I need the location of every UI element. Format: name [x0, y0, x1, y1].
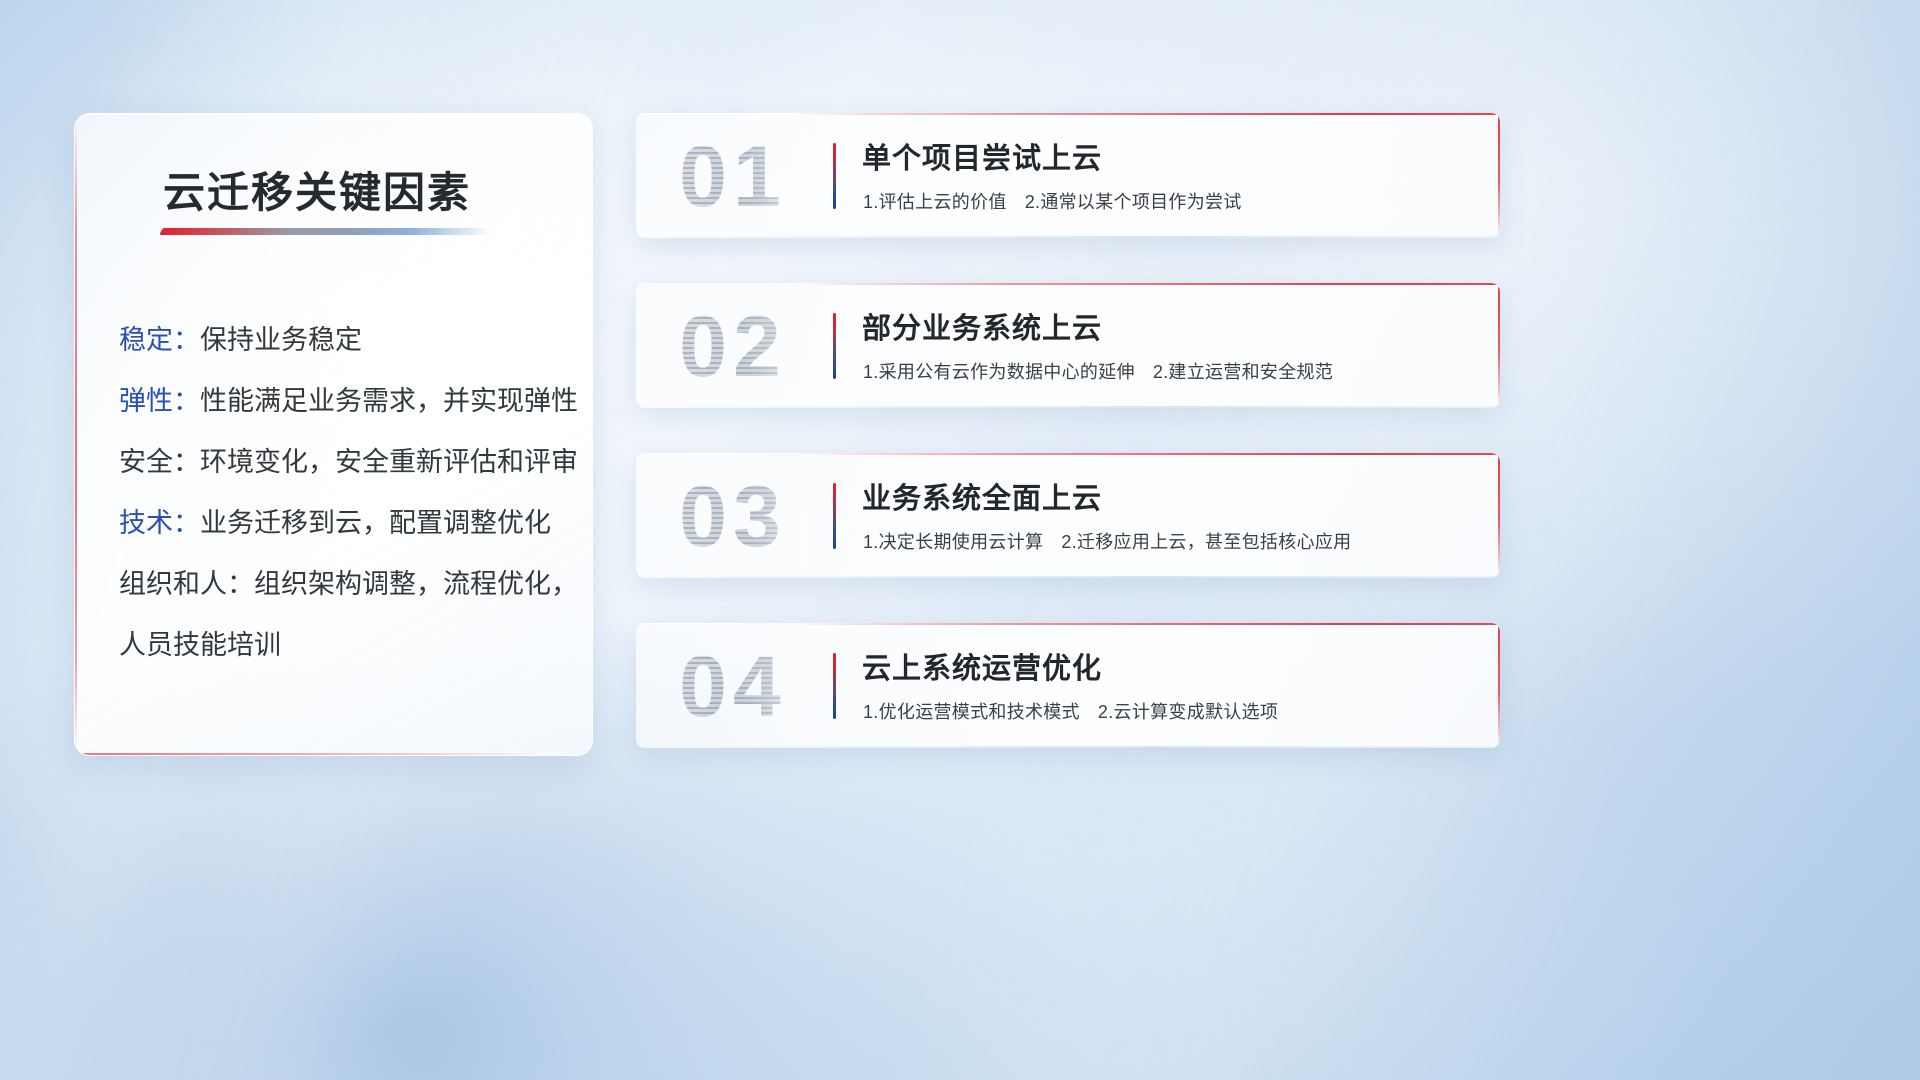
- list-item-continuation: 人员技能培训: [119, 615, 570, 676]
- fact-key: 组织和人：: [119, 569, 254, 599]
- fact-value: 性能满足业务需求，并实现弹性: [200, 386, 578, 416]
- card-description: 1.评估上云的价值2.通常以某个项目作为尝试: [863, 188, 1242, 214]
- card-accent-bar: [833, 483, 836, 549]
- card-bottom-edge: [636, 746, 1500, 748]
- card-bottom-edge: [636, 236, 1500, 238]
- card-desc-item: 2.迁移应用上云，甚至包括核心应用: [1061, 532, 1351, 552]
- fact-value: 业务迁移到云，配置调整优化: [200, 508, 551, 538]
- key-factors-panel: 云迁移关键因素 稳定：保持业务稳定 弹性：性能满足业务需求，并实现弹性 安全：环…: [74, 113, 593, 756]
- card-desc-item: 2.建立运营和安全规范: [1153, 362, 1333, 382]
- fact-value: 组织架构调整，流程优化，: [254, 569, 578, 599]
- card-title: 单个项目尝试上云: [862, 135, 1102, 177]
- panel-left-accent-edge: [75, 114, 77, 755]
- slide-stage: 云迁移关键因素 稳定：保持业务稳定 弹性：性能满足业务需求，并实现弹性 安全：环…: [0, 0, 1920, 1080]
- card-desc-item: 1.优化运营模式和技术模式: [863, 702, 1080, 722]
- fact-key: 稳定：: [119, 325, 200, 355]
- card-right-accent-edge: [1498, 623, 1500, 748]
- card-description: 1.决定长期使用云计算2.迁移应用上云，甚至包括核心应用: [863, 528, 1351, 554]
- card-desc-item: 1.决定长期使用云计算: [863, 532, 1043, 552]
- step-number-watermark: 02: [658, 297, 808, 397]
- card-description: 1.采用公有云作为数据中心的延伸2.建立运营和安全规范: [863, 358, 1333, 384]
- fact-key: 安全：: [119, 447, 200, 477]
- stage-cards-list: 01 单个项目尝试上云 1.评估上云的价值2.通常以某个项目作为尝试 02 部分…: [636, 113, 1500, 793]
- card-top-accent-edge: [792, 453, 1500, 455]
- list-item: 安全：环境变化，安全重新评估和评审: [119, 432, 570, 493]
- card-desc-item: 1.评估上云的价值: [863, 192, 1007, 212]
- card-right-accent-edge: [1498, 453, 1500, 578]
- card-top-accent-edge: [792, 113, 1500, 115]
- stage-card-04[interactable]: 04 云上系统运营优化 1.优化运营模式和技术模式2.云计算变成默认选项: [636, 623, 1500, 748]
- panel-bottom-accent-edge: [75, 753, 592, 755]
- fact-key: 技术：: [119, 508, 200, 538]
- fact-value: 保持业务稳定: [200, 325, 362, 355]
- stage-card-02[interactable]: 02 部分业务系统上云 1.采用公有云作为数据中心的延伸2.建立运营和安全规范: [636, 283, 1500, 408]
- title-underline-gradient: [159, 228, 493, 235]
- card-desc-item: 2.通常以某个项目作为尝试: [1025, 192, 1242, 212]
- list-item: 组织和人：组织架构调整，流程优化，: [119, 554, 570, 615]
- card-bottom-edge: [636, 576, 1500, 578]
- card-desc-item: 1.采用公有云作为数据中心的延伸: [863, 362, 1135, 382]
- key-factors-list: 稳定：保持业务稳定 弹性：性能满足业务需求，并实现弹性 安全：环境变化，安全重新…: [119, 310, 570, 676]
- fact-value: 人员技能培训: [119, 630, 281, 660]
- card-accent-bar: [833, 653, 836, 719]
- card-title: 业务系统全面上云: [862, 475, 1102, 517]
- card-top-accent-edge: [792, 283, 1500, 285]
- page-title: 云迁移关键因素: [163, 159, 471, 220]
- card-bottom-edge: [636, 406, 1500, 408]
- step-number-watermark: 01: [658, 127, 808, 227]
- card-right-accent-edge: [1498, 283, 1500, 408]
- card-desc-item: 2.云计算变成默认选项: [1098, 702, 1278, 722]
- card-right-accent-edge: [1498, 113, 1500, 238]
- stage-card-01[interactable]: 01 单个项目尝试上云 1.评估上云的价值2.通常以某个项目作为尝试: [636, 113, 1500, 238]
- list-item: 技术：业务迁移到云，配置调整优化: [119, 493, 570, 554]
- card-accent-bar: [833, 313, 836, 379]
- list-item: 弹性：性能满足业务需求，并实现弹性: [119, 371, 570, 432]
- card-accent-bar: [833, 143, 836, 209]
- card-title: 云上系统运营优化: [862, 645, 1102, 687]
- step-number-watermark: 04: [658, 637, 808, 737]
- fact-key: 弹性：: [119, 386, 200, 416]
- card-description: 1.优化运营模式和技术模式2.云计算变成默认选项: [863, 698, 1278, 724]
- stage-card-03[interactable]: 03 业务系统全面上云 1.决定长期使用云计算2.迁移应用上云，甚至包括核心应用: [636, 453, 1500, 578]
- list-item: 稳定：保持业务稳定: [119, 310, 570, 371]
- step-number-watermark: 03: [658, 467, 808, 567]
- fact-value: 环境变化，安全重新评估和评审: [200, 447, 578, 477]
- card-title: 部分业务系统上云: [862, 305, 1102, 347]
- card-top-accent-edge: [792, 623, 1500, 625]
